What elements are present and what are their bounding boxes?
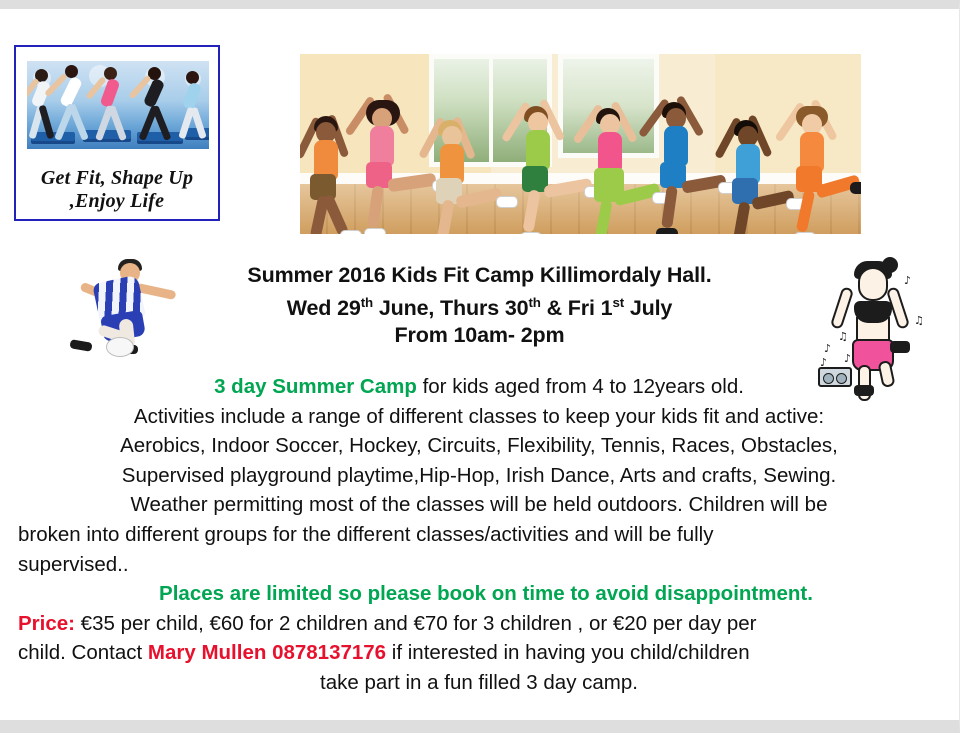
body-line-closing: take part in a fun filled 3 day camp.	[18, 668, 940, 698]
headline-ordinal-st: st	[612, 295, 624, 310]
body-line-intro: 3 day Summer Camp for kids aged from 4 t…	[18, 372, 940, 402]
flyer-canvas: Get Fit, Shape Up ,Enjoy Life	[0, 9, 959, 720]
flyer-headline: Summer 2016 Kids Fit Camp Killimordaly H…	[0, 262, 959, 349]
get-fit-logo-box: Get Fit, Shape Up ,Enjoy Life	[14, 45, 220, 221]
contact-suffix: if interested in having you child/childr…	[386, 641, 750, 664]
flyer-body-copy: 3 day Summer Camp for kids aged from 4 t…	[18, 372, 940, 698]
contact-prefix: child. Contact	[18, 641, 148, 664]
logo-tagline: Get Fit, Shape Up ,Enjoy Life	[16, 167, 218, 213]
headline-ordinal-th-1: th	[361, 295, 373, 310]
body-line-activities-2: Supervised playground playtime,Hip-Hop, …	[18, 461, 940, 491]
flyer-page: Get Fit, Shape Up ,Enjoy Life	[0, 0, 960, 733]
contact-name-phone: Mary Mullen 0878137176	[148, 641, 386, 664]
price-label: Price:	[18, 612, 75, 635]
body-line-contact: child. Contact Mary Mullen 0878137176 if…	[18, 638, 940, 668]
headline-line-dates: Wed 29th June, Thurs 30th & Fri 1st July	[0, 289, 959, 322]
body-line-weather-2: broken into different groups for the dif…	[18, 520, 940, 550]
headline-line-title: Summer 2016 Kids Fit Camp Killimordaly H…	[0, 262, 959, 289]
body-line-activities-intro: Activities include a range of different …	[18, 402, 940, 432]
headline-line-times: From 10am- 2pm	[0, 322, 959, 349]
headline-ordinal-th-2: th	[528, 295, 540, 310]
camp-intro-rest: for kids aged from 4 to 12years old.	[417, 375, 744, 398]
camp-highlight: 3 day Summer Camp	[214, 375, 417, 398]
music-note-icon: ♪	[820, 357, 827, 368]
body-line-activities-1: Aerobics, Indoor Soccer, Hockey, Circuit…	[18, 431, 940, 461]
body-line-places-limited: Places are limited so please book on tim…	[18, 579, 940, 609]
headline-date-b: June, Thurs 30	[373, 296, 528, 320]
price-details: €35 per child, €60 for 2 children and €7…	[75, 612, 757, 635]
body-line-price: Price: €35 per child, €60 for 2 children…	[18, 609, 940, 639]
kids-dancing-banner	[300, 54, 861, 234]
music-note-icon: ♪	[844, 353, 851, 364]
headline-date-c: & Fri 1	[541, 296, 613, 320]
headline-date-d: July	[624, 296, 672, 320]
body-line-weather-3: supervised..	[18, 550, 940, 580]
headline-date-a: Wed 29	[287, 296, 361, 320]
aerobics-class-photo	[27, 61, 209, 149]
body-line-weather-1: Weather permitting most of the classes w…	[18, 490, 940, 520]
